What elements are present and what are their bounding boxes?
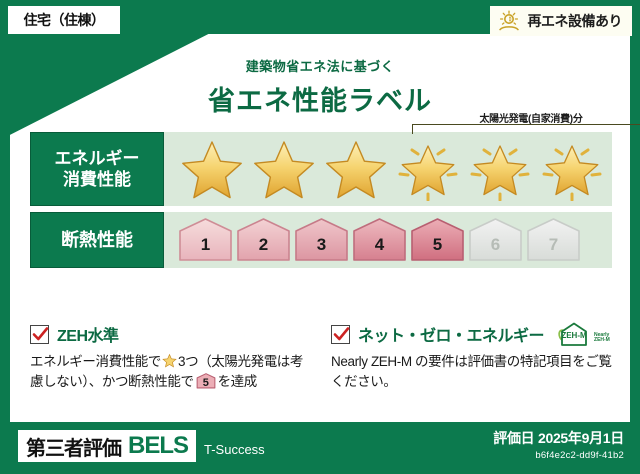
building-type-tag: 住宅（住棟） <box>8 6 120 34</box>
energy-performance-field: 太陽光発電(自家消費)分 <box>164 132 612 206</box>
criteria-blocks: ZEH水準 エネルギー消費性能で3つ（太陽光発電は考慮しない）、かつ断熱性能で5… <box>30 322 614 393</box>
net-zero-energy-header: ネット・ゼロ・エネルギー ZEH-M Nearly ZEH-M <box>331 322 614 346</box>
zeh-m-logo-text: ZEH-M <box>561 331 587 340</box>
label-heading: 建築物省エネ法に基づく 省エネ性能ラベル <box>0 56 640 118</box>
check-icon <box>32 326 49 343</box>
star-rating <box>178 137 606 201</box>
renewable-energy-badge: 再エネ設備あり <box>490 6 633 36</box>
heading-subtitle: 建築物省エネ法に基づく <box>0 56 640 75</box>
inline-level-number: 5 <box>196 375 216 392</box>
insulation-level-1: 1 <box>178 217 233 263</box>
zeh-standard-checkbox[interactable] <box>30 325 49 344</box>
inline-star-icon <box>162 353 177 368</box>
energy-performance-label: 住宅（住棟） 再エネ設備あり 建築物省エネ法に基づく 省エネ性能ラベル エネルギ… <box>0 0 640 474</box>
zeh-m-house-icon: ZEH-M <box>554 321 592 347</box>
star-filled-solar <box>538 137 606 201</box>
energy-performance-label-box: エネルギー 消費性能 <box>30 132 164 206</box>
label-footer: 第三者評価 BELS T-Success 評価日 2025年9月1日 b6f4e… <box>0 422 640 474</box>
insulation-performance-row: 断熱性能 <box>30 212 612 268</box>
star-filled <box>322 137 390 201</box>
energy-label-line-1: エネルギー <box>55 148 140 169</box>
net-zero-energy-body: Nearly ZEH-M の要件は評価書の特記項目をご覧ください。 <box>331 352 614 393</box>
insulation-level-number: 2 <box>236 235 291 255</box>
net-zero-energy-checkbox[interactable] <box>331 325 350 344</box>
building-type-text: 住宅（住棟） <box>24 10 105 30</box>
zeh-body-text-1: エネルギー消費性能で <box>30 354 161 369</box>
check-icon <box>333 326 350 343</box>
evaluation-info: 評価日 2025年9月1日 b6f4e2c2-dd9f-41b2 <box>493 428 624 461</box>
insulation-level-2: 2 <box>236 217 291 263</box>
zeh-standard-title: ZEH水準 <box>57 322 119 346</box>
insulation-level-number: 6 <box>468 235 523 255</box>
inline-level-badge: 5 <box>196 373 216 389</box>
insulation-level-number: 7 <box>526 235 581 255</box>
zeh-m-logo-sub2: ZEH-M <box>594 338 610 343</box>
insulation-label-text: 断熱性能 <box>61 229 133 252</box>
evaluation-id: b6f4e2c2-dd9f-41b2 <box>493 450 624 461</box>
solar-annotation-bracket <box>412 124 640 134</box>
renewable-energy-label: 再エネ設備あり <box>528 11 623 31</box>
sun-icon <box>496 9 522 33</box>
bels-certification-box: 第三者評価 BELS <box>18 430 196 462</box>
company-name: T-Success <box>204 442 265 457</box>
energy-performance-row: エネルギー 消費性能 太陽光発電(自家消費)分 <box>30 132 612 206</box>
bels-logo-text: BELS <box>128 432 188 460</box>
insulation-level-number: 5 <box>410 235 465 255</box>
star-filled <box>250 137 318 201</box>
zeh-standard-body: エネルギー消費性能で3つ（太陽光発電は考慮しない）、かつ断熱性能で5を達成 <box>30 352 313 393</box>
insulation-level-number: 3 <box>294 235 349 255</box>
insulation-level-7: 7 <box>526 217 581 263</box>
bels-japanese-text: 第三者評価 <box>26 432 121 461</box>
zeh-m-logo: ZEH-M Nearly ZEH-M <box>554 321 610 347</box>
insulation-level-6: 6 <box>468 217 523 263</box>
evaluation-date: 評価日 2025年9月1日 <box>493 428 624 448</box>
zeh-standard-block: ZEH水準 エネルギー消費性能で3つ（太陽光発電は考慮しない）、かつ断熱性能で5… <box>30 322 313 393</box>
insulation-level-3: 3 <box>294 217 349 263</box>
metrics-area: エネルギー 消費性能 太陽光発電(自家消費)分 <box>30 132 612 274</box>
insulation-level-number: 4 <box>352 235 407 255</box>
star-filled-solar <box>466 137 534 201</box>
insulation-performance-label-box: 断熱性能 <box>30 212 164 268</box>
insulation-level-scale: 1 2 3 <box>178 217 581 263</box>
net-zero-energy-block: ネット・ゼロ・エネルギー ZEH-M Nearly ZEH-M Nearly Z… <box>331 322 614 393</box>
insulation-level-5: 5 <box>410 217 465 263</box>
insulation-level-4: 4 <box>352 217 407 263</box>
star-filled <box>178 137 246 201</box>
star-filled-solar <box>394 137 462 201</box>
zeh-standard-header: ZEH水準 <box>30 322 313 346</box>
zeh-body-text-3: を達成 <box>218 374 257 389</box>
insulation-performance-field: 1 2 3 <box>164 212 612 268</box>
insulation-level-number: 1 <box>178 235 233 255</box>
solar-annotation-text: 太陽光発電(自家消費)分 <box>410 110 640 125</box>
energy-label-line-2: 消費性能 <box>63 169 131 190</box>
net-zero-energy-title: ネット・ゼロ・エネルギー <box>358 322 544 346</box>
